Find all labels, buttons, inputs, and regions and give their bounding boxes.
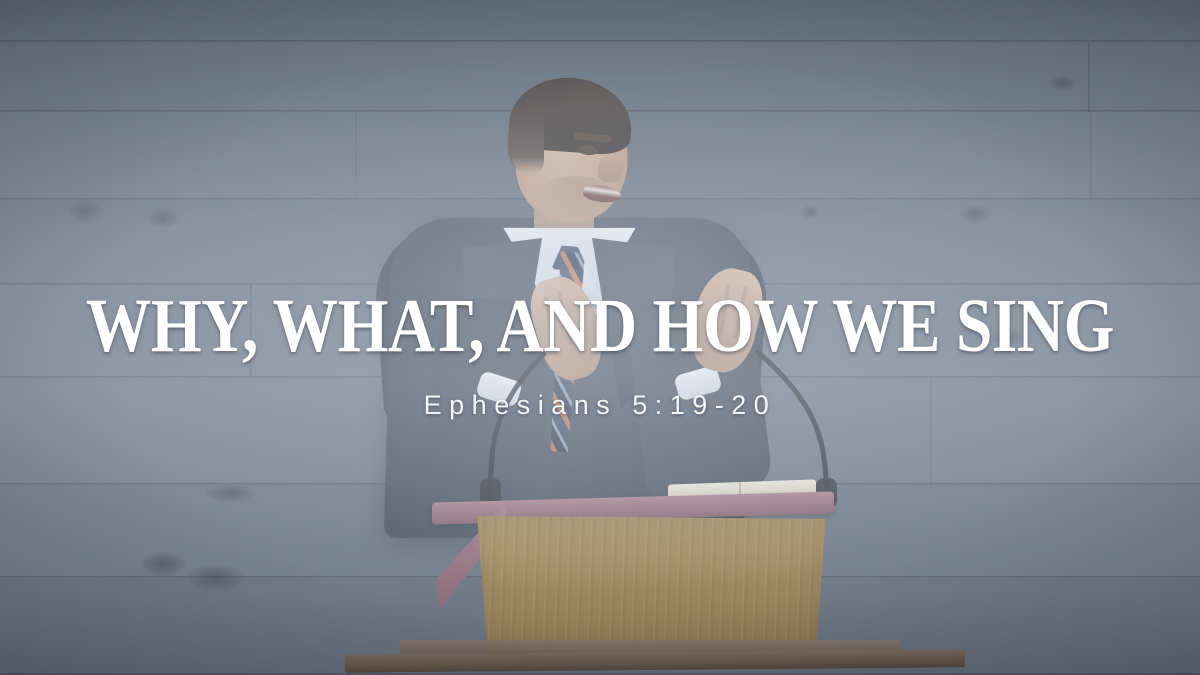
sermon-title-slide: WHY, WHAT, AND HOW WE SING Ephesians 5:1… [0, 0, 1200, 675]
pulpit [0, 0, 1200, 675]
pulpit-oak-panel [470, 516, 826, 658]
microphone-gooseneck-icon [470, 352, 560, 512]
